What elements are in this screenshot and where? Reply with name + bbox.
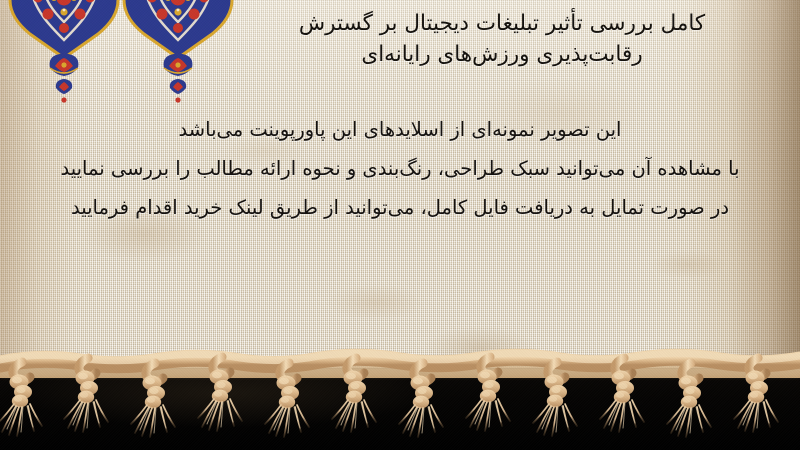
body-line-3: در صورت تمایل به دریافت فایل کامل، می‌تو… — [14, 188, 786, 227]
slide-canvas: کامل بررسی تأثیر تبلیغات دیجیتال بر گستر… — [0, 0, 800, 450]
body-line-1: این تصویر نمونه‌ای از اسلایدهای این پاور… — [14, 110, 786, 149]
body-line-2: با مشاهده آن می‌توانید سبک طراحی، رنگ‌بن… — [14, 149, 786, 188]
slide-title: کامل بررسی تأثیر تبلیغات دیجیتال بر گستر… — [224, 8, 780, 70]
title-line-1: کامل بررسی تأثیر تبلیغات دیجیتال بر گستر… — [224, 8, 780, 39]
carpet-tassel-fringe-icon — [0, 340, 800, 450]
title-line-2: رقابت‌پذیری ورزش‌های رایانه‌ای — [224, 39, 780, 70]
slide-body: این تصویر نمونه‌ای از اسلایدهای این پاور… — [14, 110, 786, 227]
